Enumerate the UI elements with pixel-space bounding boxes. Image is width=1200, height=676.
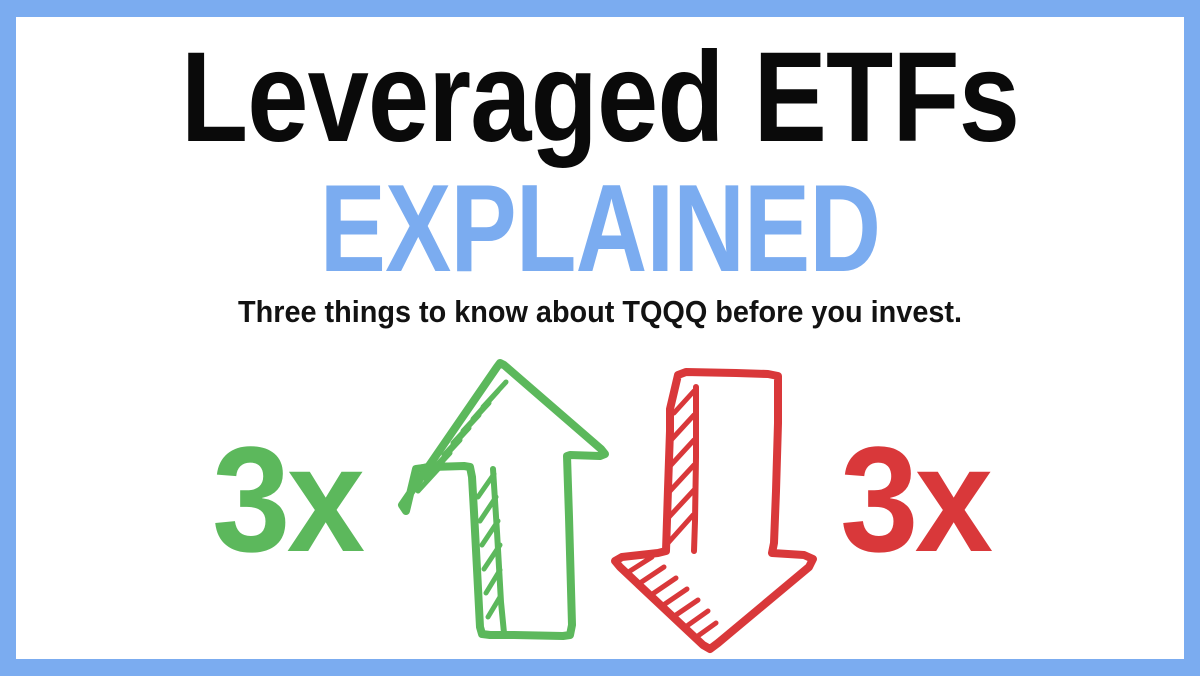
page-subtitle-explained: EXPLAINED <box>133 169 1067 289</box>
multiplier-label-up: 3x <box>212 424 361 574</box>
tagline: Three things to know about TQQQ before y… <box>57 294 1143 330</box>
card-interior: Leveraged ETFs EXPLAINED Three things to… <box>16 17 1184 659</box>
page-title: Leveraged ETFs <box>98 39 1102 157</box>
multiplier-label-down: 3x <box>840 424 989 574</box>
arrow-down-sketch-icon <box>608 361 822 655</box>
arrow-up-sketch-icon <box>394 357 612 647</box>
title-card-canvas: Leveraged ETFs EXPLAINED Three things to… <box>0 0 1200 676</box>
